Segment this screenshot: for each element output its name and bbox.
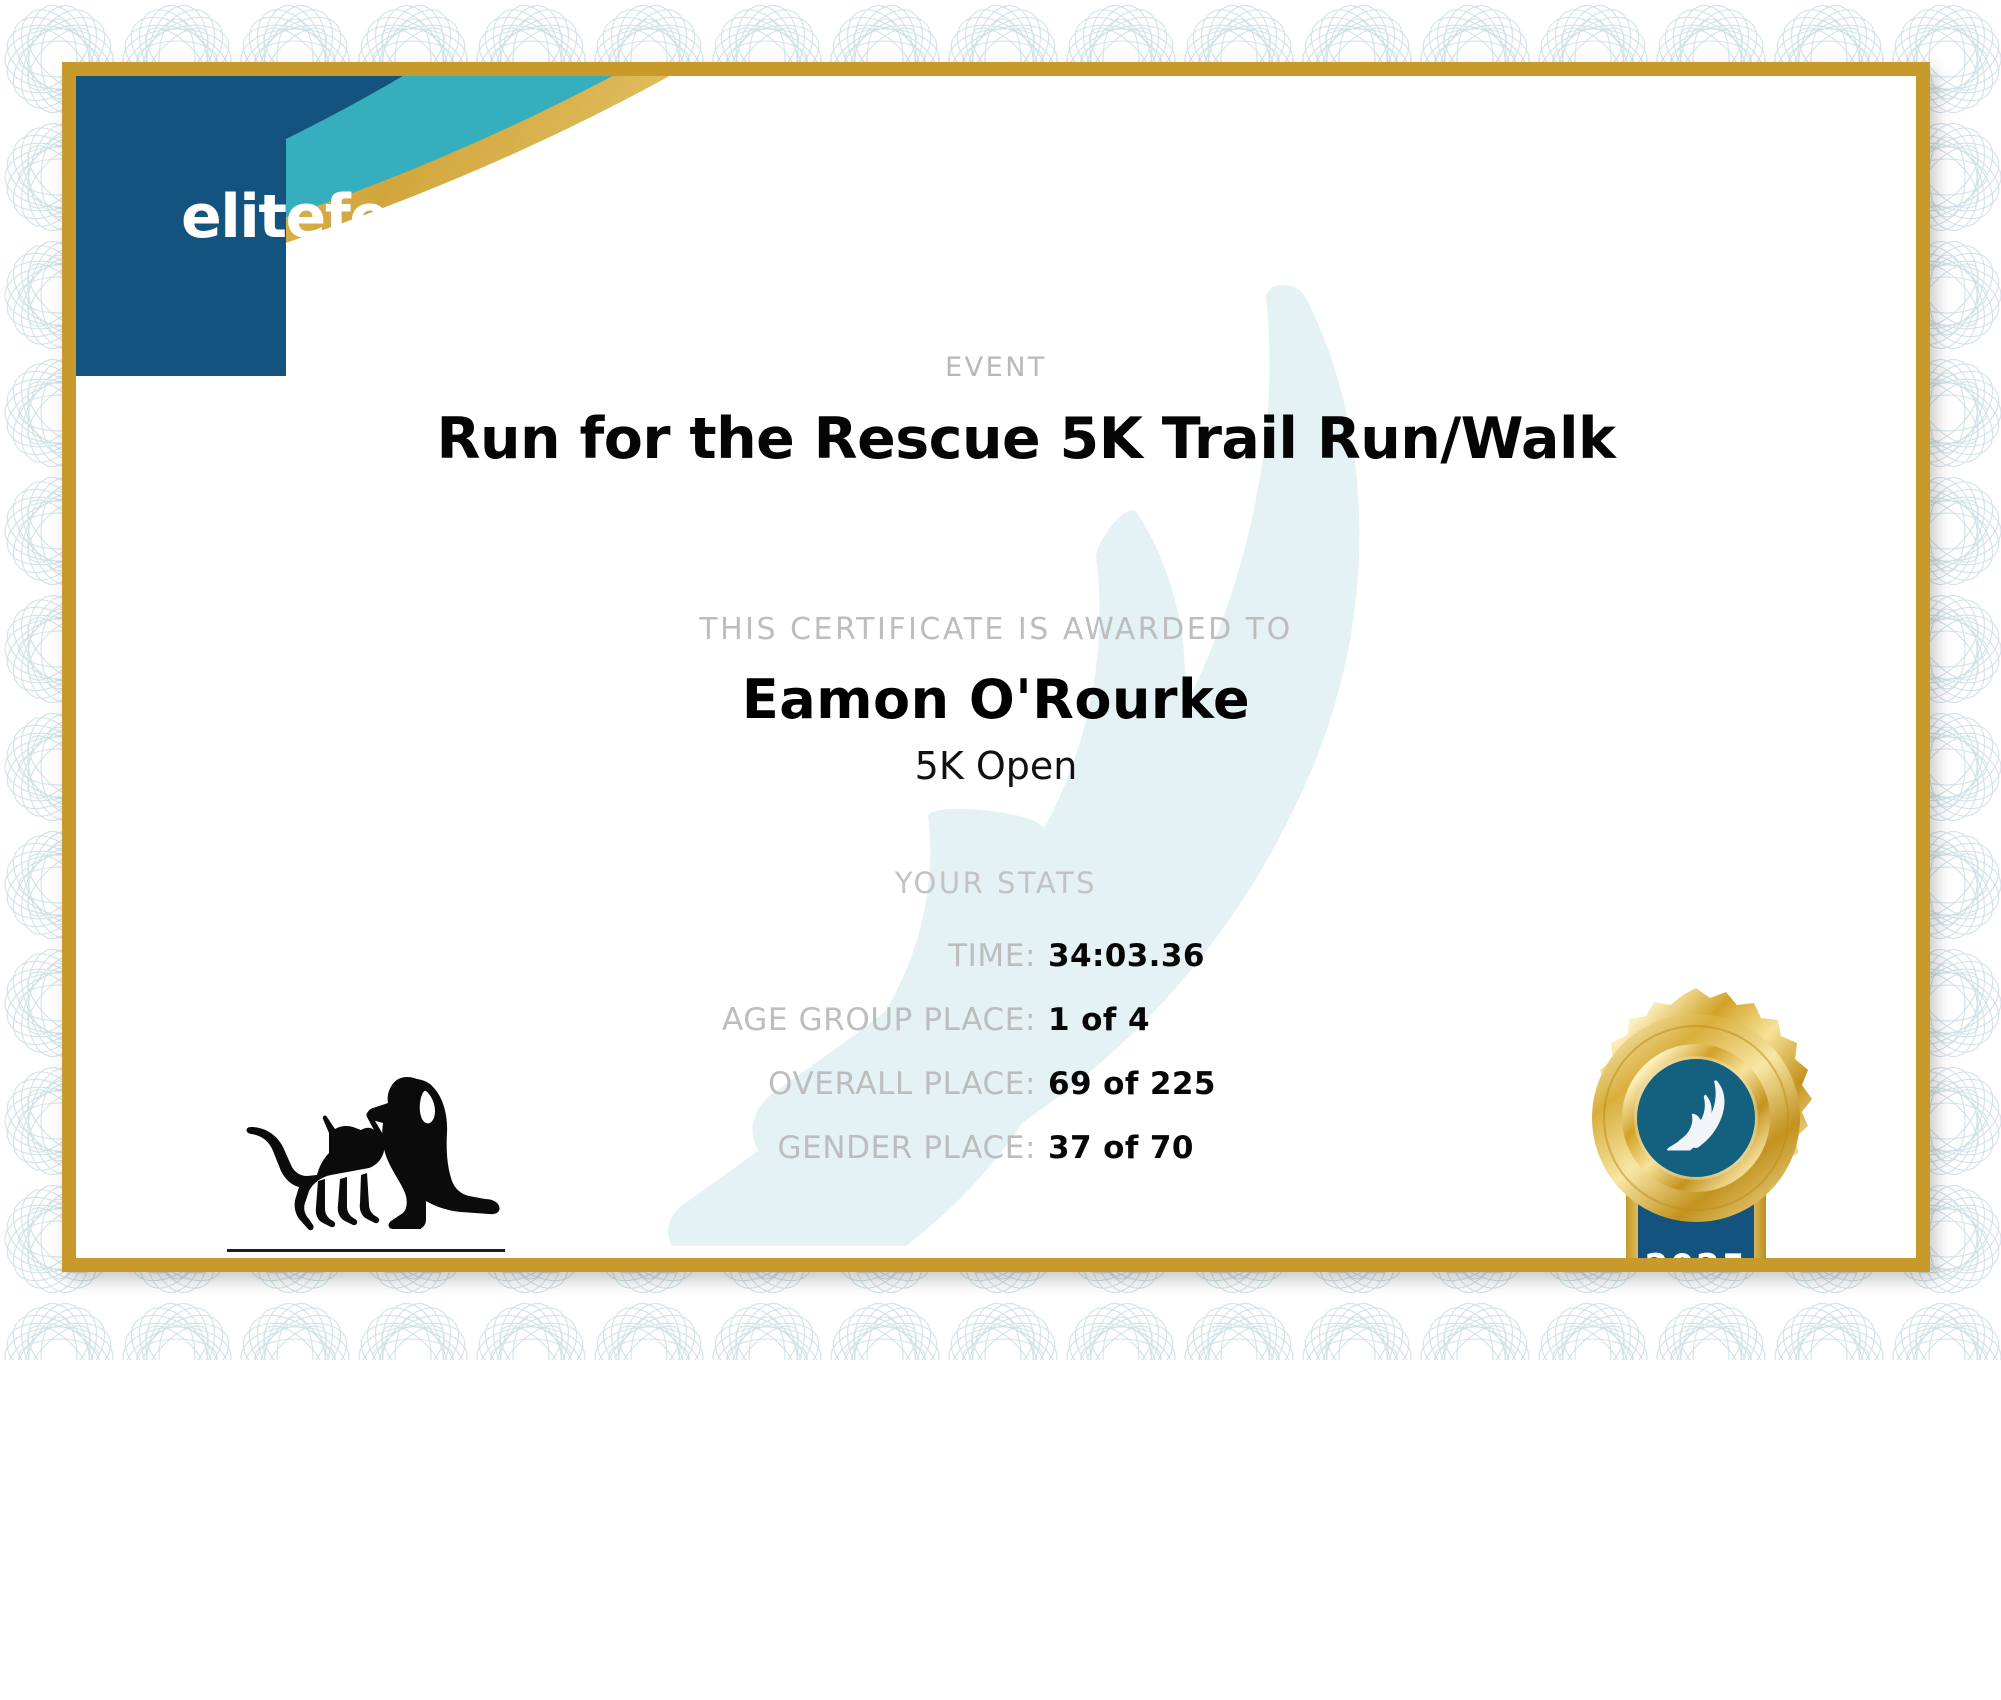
cat-and-dog-silhouette-icon (221, 1061, 511, 1236)
event-title: Run for the Rescue 5K Trail Run/Walk (196, 406, 1856, 472)
stat-value: 1 of 4 (1036, 1002, 1486, 1038)
sponsor-divider (227, 1249, 505, 1252)
certificate-content: EVENT Run for the Rescue 5K Trail Run/Wa… (76, 76, 1916, 1258)
stat-row: GENDER PLACE: 37 of 70 (376, 1130, 1486, 1178)
stats-heading: YOUR STATS (76, 866, 1916, 900)
stats-table: TIME: 34:03.36 AGE GROUP PLACE: 1 of 4 O… (376, 938, 1486, 1194)
certificate-gold-border: elitefeats EVENT Run for the Rescue 5K T… (62, 62, 1930, 1272)
stat-value: 34:03.36 (1036, 938, 1486, 974)
division-name: 5K Open (76, 744, 1916, 788)
sponsor-logo-last-chance-animal-rescue: LAST CHANCE ANIMAL RESCUE (196, 1061, 536, 1258)
stat-row: TIME: 34:03.36 (376, 938, 1486, 986)
recipient-name: Eamon O'Rourke (76, 668, 1916, 731)
stat-row: AGE GROUP PLACE: 1 of 4 (376, 1002, 1486, 1050)
seal-year: 2025 (1645, 1247, 1748, 1258)
stat-row: OVERALL PLACE: 69 of 225 (376, 1066, 1486, 1114)
stat-label: AGE GROUP PLACE: (376, 1002, 1036, 1038)
stat-value: 69 of 225 (1036, 1066, 1486, 1102)
certificate-page: elitefeats EVENT Run for the Rescue 5K T… (0, 0, 2001, 1700)
stat-label: TIME: (376, 938, 1036, 974)
awarded-to-label: THIS CERTIFICATE IS AWARDED TO (76, 612, 1916, 647)
finisher-award-seal: 2025 FINISHER CERTIFICATE (1531, 986, 1861, 1258)
event-label: EVENT (76, 352, 1916, 383)
certificate-body: elitefeats EVENT Run for the Rescue 5K T… (76, 76, 1916, 1258)
winged-foot-medal-icon: 2025 (1564, 986, 1828, 1258)
stat-value: 37 of 70 (1036, 1130, 1486, 1166)
